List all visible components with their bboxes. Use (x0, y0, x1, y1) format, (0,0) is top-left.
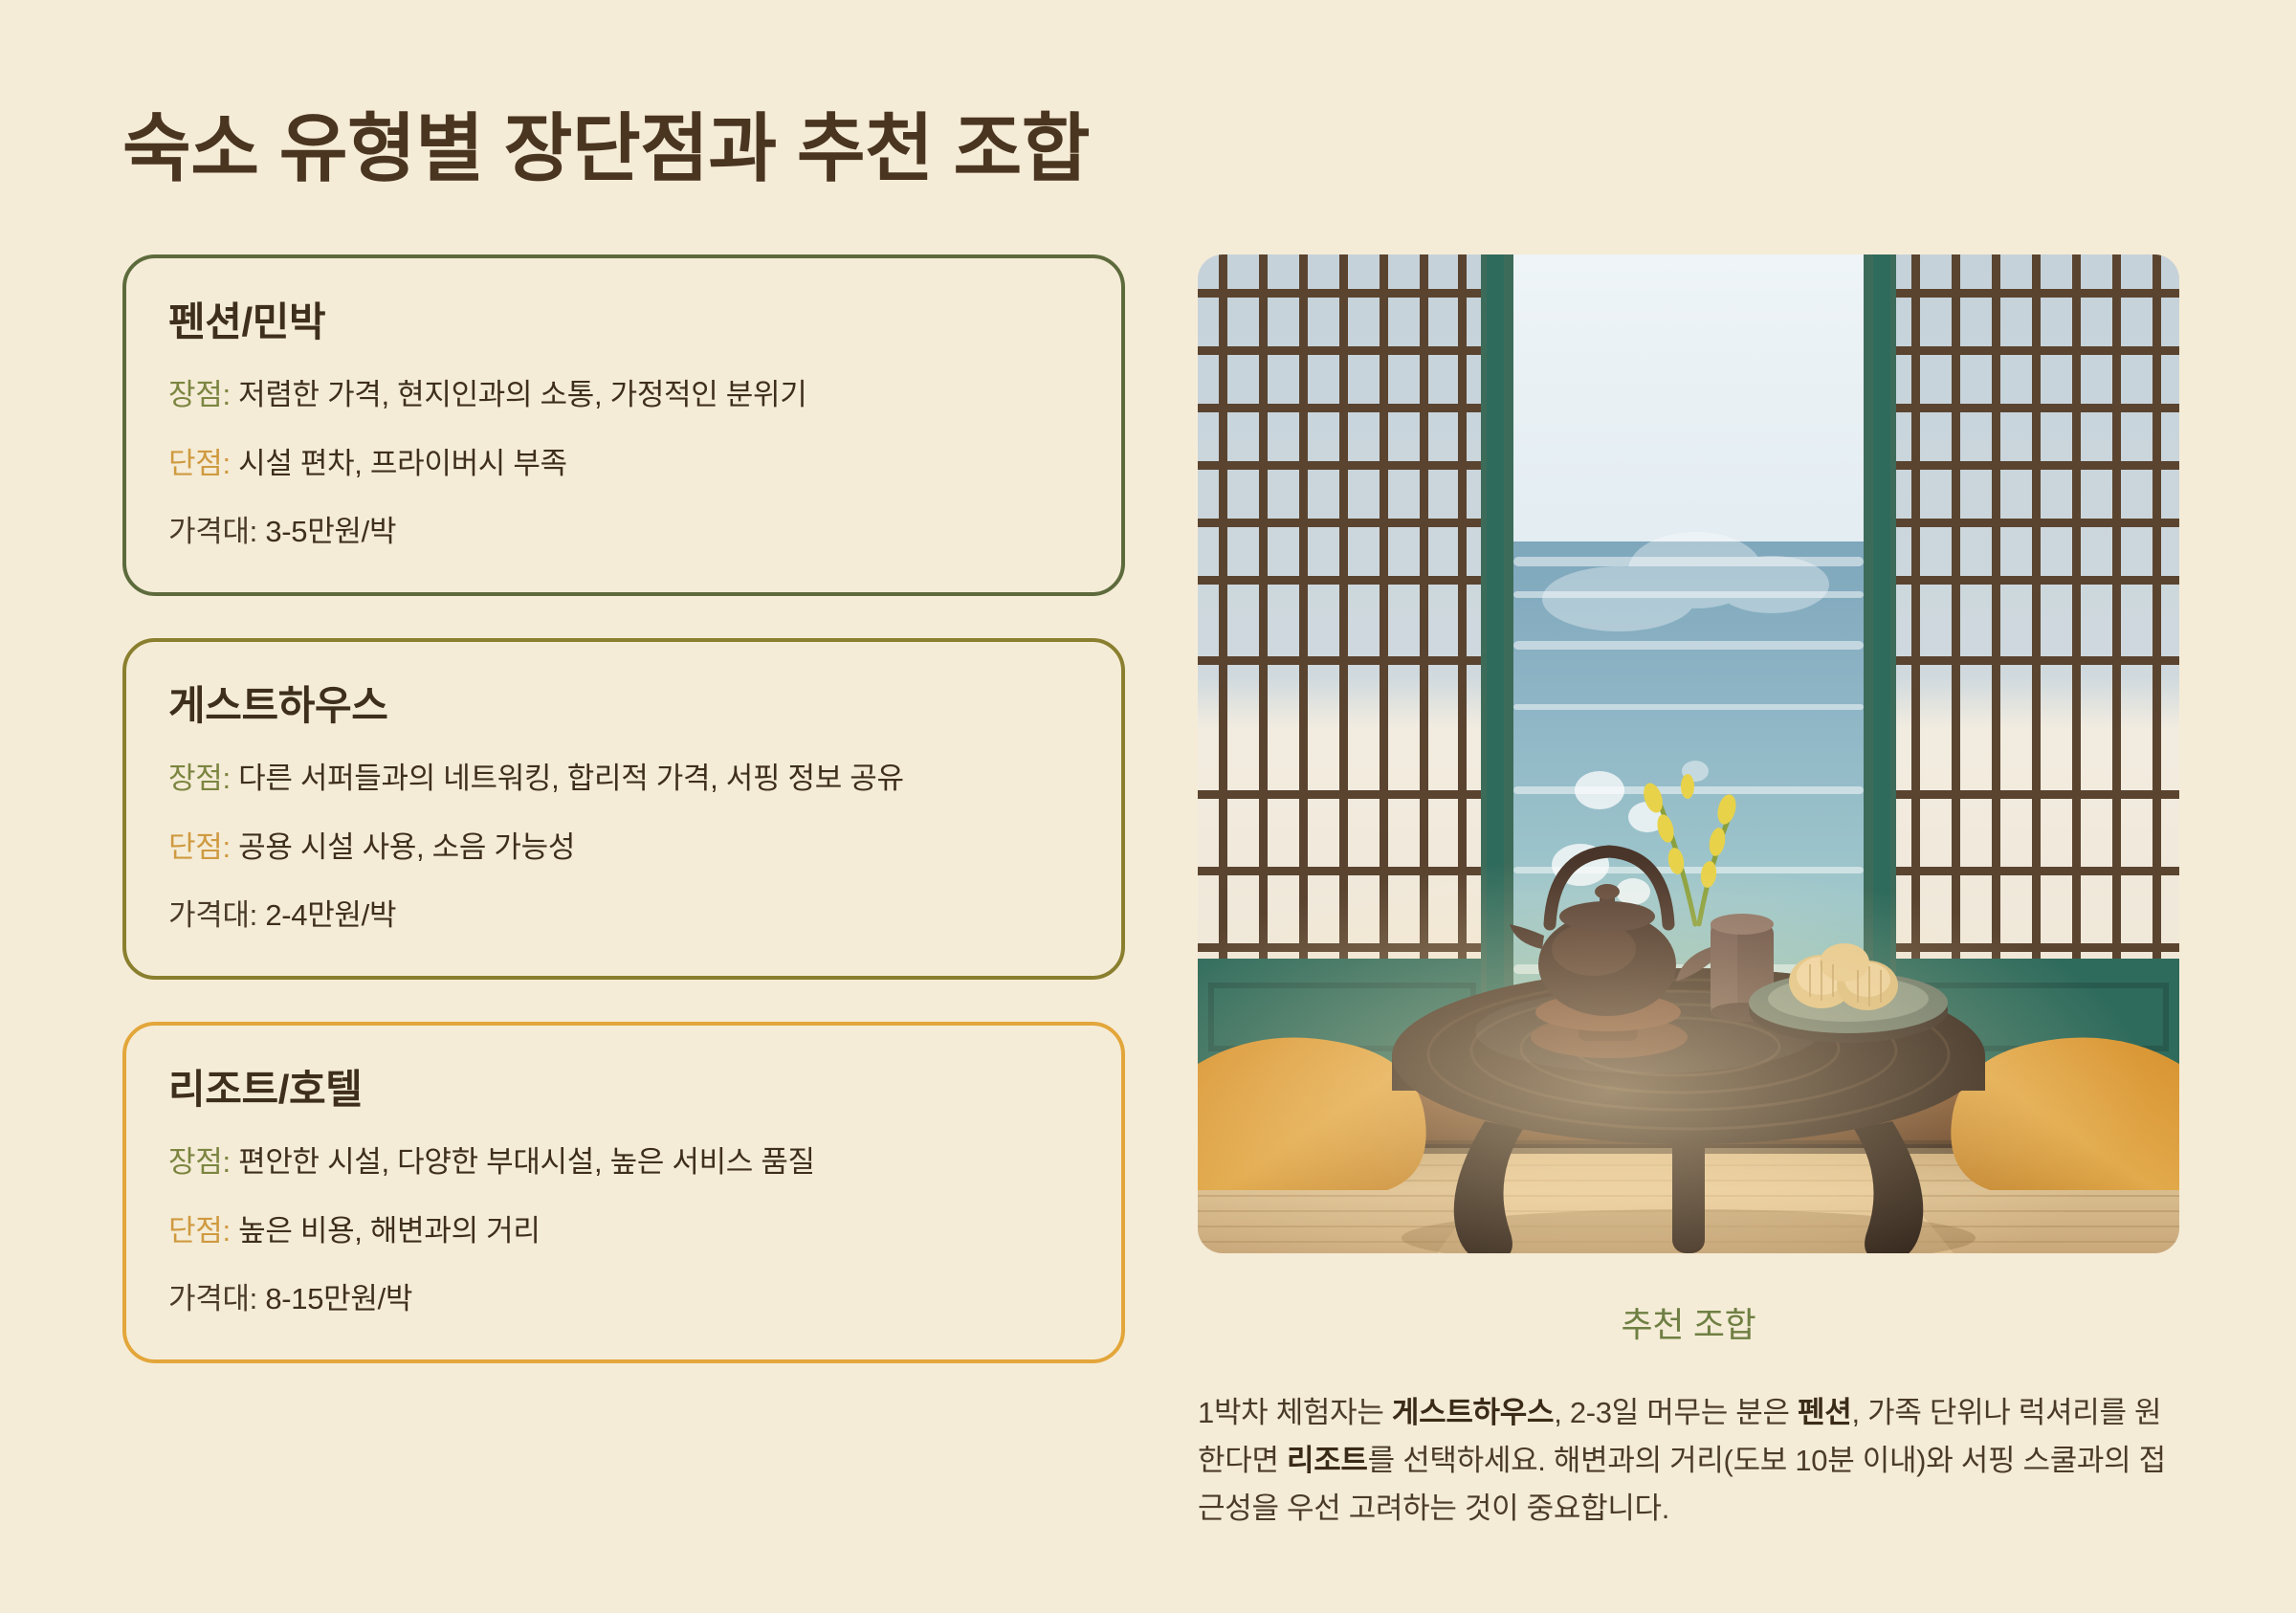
card-price-row: 가격대: 3-5만원/박 (168, 512, 1079, 552)
right-column: 추천 조합 1박차 체험자는 게스트하우스, 2-3일 머무는 분은 펜션, 가… (1198, 254, 2179, 1563)
price-label: 가격대: (168, 1282, 257, 1315)
cons-value: 높은 비용, 해변과의 거리 (238, 1214, 540, 1248)
summary-highlight: 리조트 (1287, 1444, 1368, 1477)
card-pros-row: 장점: 편안한 시설, 다양한 부대시설, 높은 서비스 품질 (168, 1142, 1079, 1182)
card-cons-row: 단점: 시설 편차, 프라이버시 부족 (168, 444, 1079, 484)
pros-label: 장점: (168, 378, 231, 411)
photo-caption: 추천 조합 (1198, 1297, 2179, 1347)
cons-value: 시설 편차, 프라이버시 부족 (238, 447, 567, 480)
cons-label: 단점: (168, 830, 231, 864)
price-value: 2-4만원/박 (265, 898, 396, 932)
accommodation-card-list: 펜션/민박 장점: 저렴한 가격, 현지인과의 소통, 가정적인 분위기 단점:… (122, 254, 1125, 1405)
card-cons-row: 단점: 높은 비용, 해변과의 거리 (168, 1211, 1079, 1251)
price-label: 가격대: (168, 515, 257, 548)
card-title: 리조트/호텔 (168, 1066, 1079, 1114)
page-title: 숙소 유형별 장단점과 추천 조합 (122, 105, 1090, 191)
hanok-ocean-room-photo (1198, 254, 2179, 1253)
summary-highlight: 게스트하우스 (1392, 1396, 1554, 1429)
pros-label: 장점: (168, 1145, 231, 1179)
card-pros-row: 장점: 저렴한 가격, 현지인과의 소통, 가정적인 분위기 (168, 375, 1079, 415)
summary-highlight: 펜션 (1798, 1396, 1851, 1429)
card-pros-row: 장점: 다른 서퍼들과의 네트워킹, 합리적 가격, 서핑 정보 공유 (168, 759, 1079, 799)
card-price-row: 가격대: 2-4만원/박 (168, 895, 1079, 936)
slide-root: 숙소 유형별 장단점과 추천 조합 펜션/민박 장점: 저렴한 가격, 현지인과… (0, 0, 2296, 1613)
accommodation-card[interactable]: 게스트하우스 장점: 다른 서퍼들과의 네트워킹, 합리적 가격, 서핑 정보 … (122, 638, 1125, 980)
cons-label: 단점: (168, 447, 231, 480)
accommodation-card[interactable]: 펜션/민박 장점: 저렴한 가격, 현지인과의 소통, 가정적인 분위기 단점:… (122, 254, 1125, 596)
card-cons-row: 단점: 공용 시설 사용, 소음 가능성 (168, 828, 1079, 868)
card-title: 펜션/민박 (168, 298, 1079, 346)
summary-text: 1박차 체험자는 (1198, 1396, 1392, 1429)
card-title: 게스트하우스 (168, 682, 1079, 730)
accommodation-card[interactable]: 리조트/호텔 장점: 편안한 시설, 다양한 부대시설, 높은 서비스 품질 단… (122, 1022, 1125, 1363)
card-price-row: 가격대: 8-15만원/박 (168, 1279, 1079, 1319)
pros-value: 저렴한 가격, 현지인과의 소통, 가정적인 분위기 (238, 378, 806, 411)
pros-label: 장점: (168, 762, 231, 795)
summary-text: , 2-3일 머무는 분은 (1554, 1396, 1798, 1429)
pros-value: 다른 서퍼들과의 네트워킹, 합리적 가격, 서핑 정보 공유 (238, 762, 904, 795)
price-value: 3-5만원/박 (265, 515, 396, 548)
cons-value: 공용 시설 사용, 소음 가능성 (238, 830, 575, 864)
cons-label: 단점: (168, 1214, 231, 1248)
price-label: 가격대: (168, 898, 257, 932)
pros-value: 편안한 시설, 다양한 부대시설, 높은 서비스 품질 (238, 1145, 815, 1179)
price-value: 8-15만원/박 (265, 1282, 412, 1315)
summary-paragraph: 1박차 체험자는 게스트하우스, 2-3일 머무는 분은 펜션, 가족 단위나 … (1198, 1389, 2179, 1534)
